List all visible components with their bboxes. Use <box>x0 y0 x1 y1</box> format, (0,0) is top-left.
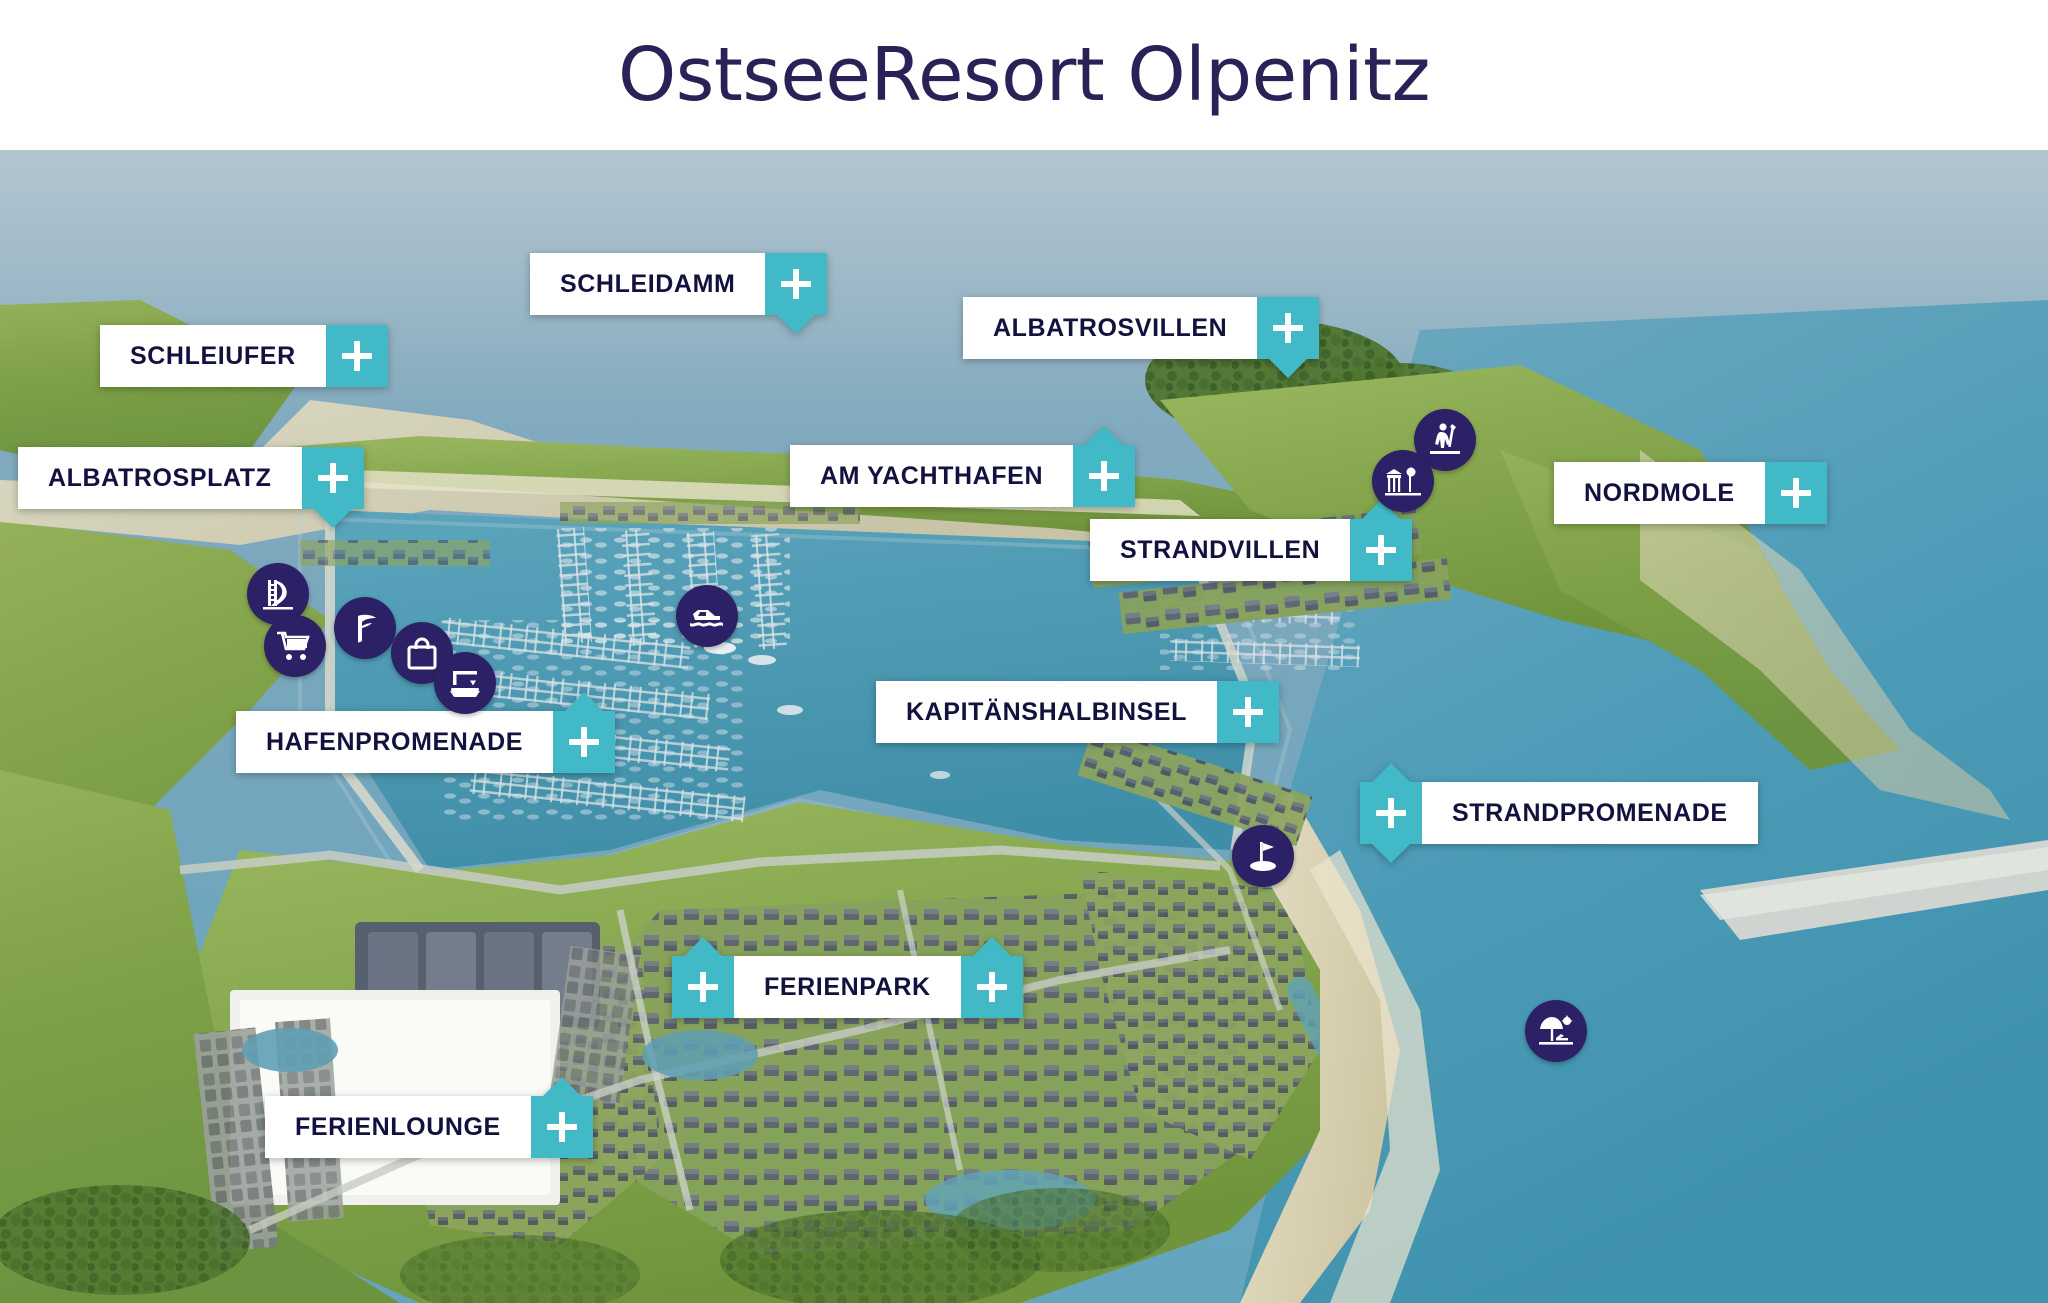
expand-ferienlounge-button[interactable] <box>531 1096 593 1158</box>
plus-icon <box>781 269 811 299</box>
plus-icon <box>977 972 1007 1002</box>
hotspot-label: STRANDVILLEN <box>1090 519 1350 581</box>
plus-icon <box>342 341 372 371</box>
plus-icon <box>688 972 718 1002</box>
plus-icon <box>1366 535 1396 565</box>
poi-golf[interactable] <box>1232 825 1294 887</box>
motorboat-icon <box>687 596 727 636</box>
hotspot-label: STRANDPROMENADE <box>1422 782 1758 844</box>
expand-kapitaenshalbinsel-button[interactable] <box>1217 681 1279 743</box>
poi-motorboat[interactable] <box>676 585 738 647</box>
poi-harbor-crane[interactable] <box>434 652 496 714</box>
hotspot-hafenpromenade[interactable]: HAFENPROMENADE <box>236 711 615 773</box>
expand-ferienpark-right-button[interactable] <box>961 956 1023 1018</box>
expand-hafenpromenade-button[interactable] <box>553 711 615 773</box>
expand-strandpromenade-button[interactable] <box>1360 782 1422 844</box>
expand-strandvillen-button[interactable] <box>1350 519 1412 581</box>
hotspot-nordmole[interactable]: NORDMOLE <box>1554 462 1827 524</box>
expand-nordmole-button[interactable] <box>1765 462 1827 524</box>
beach-umbrella-icon <box>1536 1011 1576 1051</box>
hotspot-schleidamm[interactable]: SCHLEIDAMM <box>530 253 827 315</box>
hotspot-schleiufer[interactable]: SCHLEIUFER <box>100 325 388 387</box>
expand-schleidamm-button[interactable] <box>765 253 827 315</box>
plus-icon <box>547 1112 577 1142</box>
title-bar: OstseeResort Olpenitz <box>0 0 2048 150</box>
plus-icon <box>1273 313 1303 343</box>
poi-shopping-cart[interactable] <box>264 615 326 677</box>
beach-pavilion-icon <box>1383 461 1423 501</box>
expand-ferienpark-left-button[interactable] <box>672 956 734 1018</box>
hotspot-albatrosvillen[interactable]: ALBATROSVILLEN <box>963 297 1319 359</box>
hotspot-label: KAPITÄNSHALBINSEL <box>876 681 1217 743</box>
shopping-cart-icon <box>275 626 315 666</box>
expand-am-yachthafen-button[interactable] <box>1073 445 1135 507</box>
plus-icon <box>318 463 348 493</box>
hotspot-strandpromenade[interactable]: STRANDPROMENADE <box>1360 782 1758 844</box>
hotspot-label: HAFENPROMENADE <box>236 711 553 773</box>
resort-map-page: OstseeResort Olpenitz <box>0 0 2048 1303</box>
hotspot-label: SCHLEIUFER <box>100 325 326 387</box>
hotspot-albatrosplatz[interactable]: ALBATROSPLATZ <box>18 447 364 509</box>
harbor-crane-icon <box>445 663 485 703</box>
plus-icon <box>1376 798 1406 828</box>
hotspot-ferienpark[interactable]: FERIENPARK <box>672 956 1023 1018</box>
golf-flag-icon <box>1243 836 1283 876</box>
poi-beach[interactable] <box>1525 1000 1587 1062</box>
hotspot-label: ALBATROSVILLEN <box>963 297 1257 359</box>
hotspot-label: FERIENPARK <box>734 956 961 1018</box>
hotspot-label: ALBATROSPLATZ <box>18 447 302 509</box>
hotspot-am-yachthafen[interactable]: AM YACHTHAFEN <box>790 445 1135 507</box>
plus-icon <box>1233 697 1263 727</box>
hotspot-label: FERIENLOUNGE <box>265 1096 531 1158</box>
hotspot-ferienlounge[interactable]: FERIENLOUNGE <box>265 1096 593 1158</box>
expand-albatrosplatz-button[interactable] <box>302 447 364 509</box>
plus-icon <box>569 727 599 757</box>
hotspot-kapitaenshalbinsel[interactable]: KAPITÄNSHALBINSEL <box>876 681 1279 743</box>
shopping-bag-icon <box>402 633 442 673</box>
hotspot-label: SCHLEIDAMM <box>530 253 765 315</box>
plus-icon <box>1781 478 1811 508</box>
poi-beach-pavilion[interactable] <box>1372 450 1434 512</box>
hotspot-label: AM YACHTHAFEN <box>790 445 1073 507</box>
page-title: OstseeResort Olpenitz <box>618 38 1430 112</box>
hotspot-label: NORDMOLE <box>1554 462 1765 524</box>
water-slide-icon <box>258 574 298 614</box>
poi-f-logo[interactable] <box>334 597 396 659</box>
aerial-resort-map[interactable]: SCHLEIDAMM SCHLEIUFER ALBATROSVILLEN <box>0 150 2048 1303</box>
hotspot-strandvillen[interactable]: STRANDVILLEN <box>1090 519 1412 581</box>
plus-icon <box>1089 461 1119 491</box>
expand-schleiufer-button[interactable] <box>326 325 388 387</box>
paddleboard-icon <box>1425 420 1465 460</box>
expand-albatrosvillen-button[interactable] <box>1257 297 1319 359</box>
f-logo-icon <box>345 608 385 648</box>
